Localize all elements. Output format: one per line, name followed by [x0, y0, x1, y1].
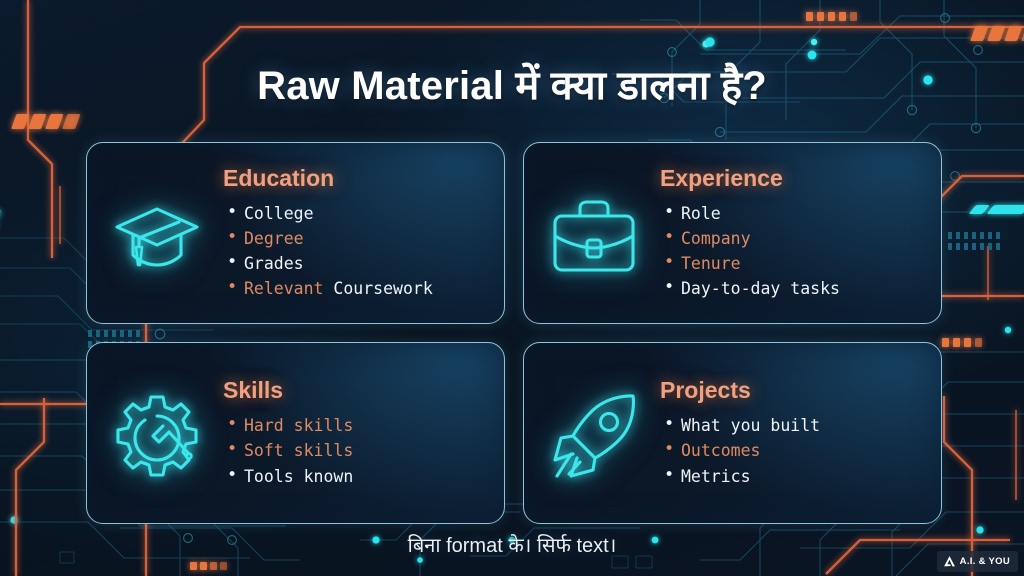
card-projects[interactable]: Projects What you built Outcomes Metrics	[523, 342, 942, 524]
list-item: Hard skills	[227, 413, 490, 438]
card-skills-title: Skills	[223, 377, 490, 404]
card-education-list: College Degree Grades Relevant Coursewor…	[227, 201, 490, 301]
card-experience-list: Role Company Tenure Day-to-day tasks	[664, 201, 927, 301]
list-item: Company	[664, 226, 927, 251]
watermark-text: A.I. & YOU	[960, 556, 1010, 567]
card-experience[interactable]: Experience Role Company Tenure Day-to-da…	[523, 142, 942, 324]
list-item: College	[227, 201, 490, 226]
card-skills[interactable]: Skills Hard skills Soft skills Tools kno…	[86, 342, 505, 524]
list-item: Tenure	[664, 251, 927, 276]
list-item: Day-to-day tasks	[664, 276, 927, 301]
rocket-icon	[524, 384, 664, 482]
card-experience-title: Experience	[660, 165, 927, 192]
page-title-text: Raw Material में क्या डालना है?	[257, 56, 767, 111]
gear-wrench-icon	[87, 386, 227, 480]
graduation-cap-icon	[87, 191, 227, 275]
card-education-title: Education	[223, 165, 490, 192]
list-item: Outcomes	[664, 438, 927, 463]
page-title: Raw Material में क्या डालना है?	[0, 56, 1024, 111]
card-grid: Education College Degree Grades Relevant…	[86, 142, 942, 524]
list-item: Soft skills	[227, 438, 490, 463]
watermark: A.I. & YOU	[937, 551, 1018, 572]
list-item-tail: Coursework	[323, 279, 432, 298]
footer-caption-text: बिना format के। सिर्फ text।	[408, 535, 617, 557]
angular-a-logo-icon	[943, 555, 956, 568]
card-skills-list: Hard skills Soft skills Tools known	[227, 413, 490, 488]
list-item-lead: Relevant	[244, 279, 323, 298]
briefcase-icon	[524, 190, 664, 276]
card-education-body: Education College Degree Grades Relevant…	[227, 165, 504, 301]
card-projects-list: What you built Outcomes Metrics	[664, 413, 927, 488]
card-education[interactable]: Education College Degree Grades Relevant…	[86, 142, 505, 324]
card-projects-title: Projects	[660, 377, 927, 404]
card-skills-body: Skills Hard skills Soft skills Tools kno…	[227, 377, 504, 488]
list-item: Degree	[227, 226, 490, 251]
list-item: Role	[664, 201, 927, 226]
card-experience-body: Experience Role Company Tenure Day-to-da…	[664, 165, 941, 301]
card-projects-body: Projects What you built Outcomes Metrics	[664, 377, 941, 488]
list-item: Grades	[227, 251, 490, 276]
slide-canvas: Raw Material में क्या डालना है? Educatio…	[0, 0, 1024, 576]
list-item: Tools known	[227, 464, 490, 489]
list-item: Relevant Coursework	[227, 276, 490, 301]
list-item: Metrics	[664, 464, 927, 489]
list-item: What you built	[664, 413, 927, 438]
footer-caption: बिना format के। सिर्फ text।	[0, 531, 1024, 558]
